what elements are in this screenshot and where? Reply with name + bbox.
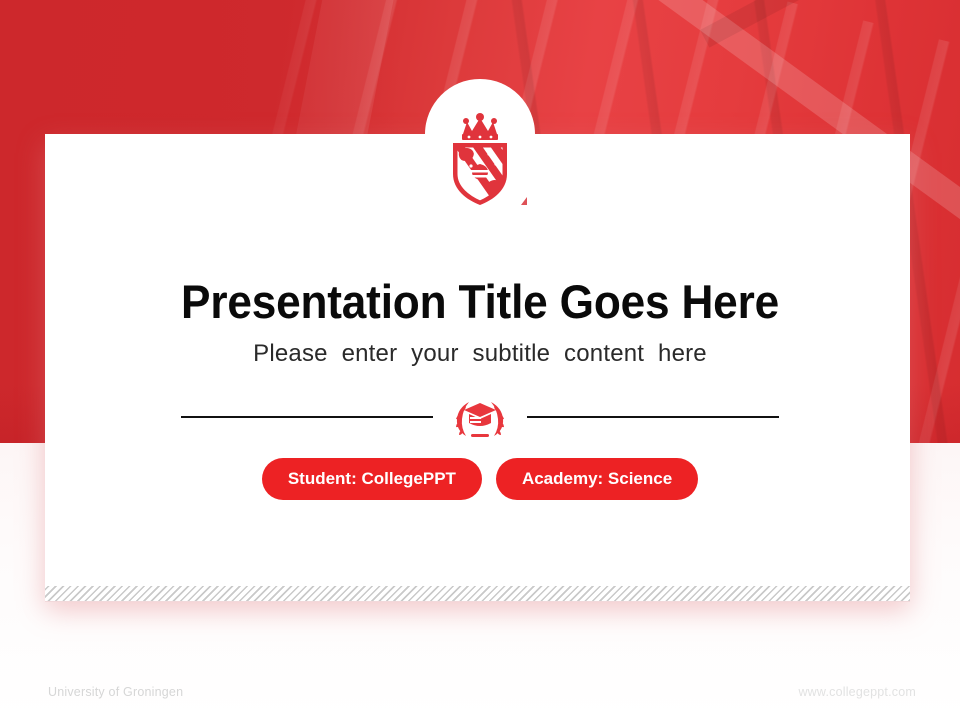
divider-row <box>0 393 960 441</box>
page-subtitle: Please enter your subtitle content here <box>0 338 960 370</box>
card-hatch-strip <box>45 586 910 602</box>
divider-rule-right <box>527 416 779 418</box>
page-title: Presentation Title Goes Here <box>29 274 931 330</box>
footer-website[interactable]: www.collegeppt.com <box>798 685 916 699</box>
presentation-slide: Presentation Title Goes Here Please ente… <box>0 0 960 720</box>
badge-group: Student: CollegePPT Academy: Science <box>0 458 960 500</box>
badge-student[interactable]: Student: CollegePPT <box>262 458 482 500</box>
divider-rule-left <box>181 416 433 418</box>
graduation-cap-laurel-icon <box>449 393 511 441</box>
badge-academy[interactable]: Academy: Science <box>496 458 698 500</box>
university-crest-icon <box>433 112 527 208</box>
footer-organization: University of Groningen <box>48 685 183 699</box>
